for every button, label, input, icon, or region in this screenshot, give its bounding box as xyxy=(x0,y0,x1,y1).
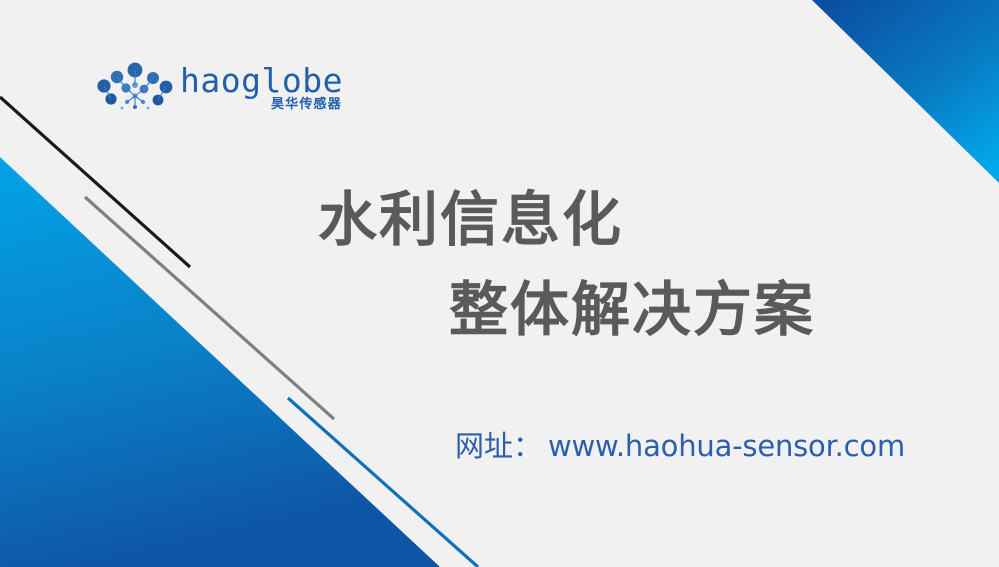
title-slide: haoglobe 昊华传感器 水利信息化 整体解决方案 网址： www.haoh… xyxy=(0,0,999,567)
gray-diagonal-line xyxy=(85,197,334,419)
slide-title-line-2: 整体解决方案 xyxy=(449,262,815,347)
website-line: 网址： www.haohua-sensor.com xyxy=(455,423,905,465)
logo-subtext: 昊华传感器 xyxy=(271,98,342,113)
slide-title-line-1: 水利信息化 xyxy=(318,172,623,257)
black-diagonal-line xyxy=(0,97,190,267)
logo-wordmark: haoglobe xyxy=(180,65,343,96)
blue-diagonal-line xyxy=(288,398,478,567)
logo-text: haoglobe 昊华传感器 xyxy=(180,65,343,113)
website-label: 网址： xyxy=(455,423,542,465)
website-url[interactable]: www.haohua-sensor.com xyxy=(548,429,905,463)
company-logo: haoglobe 昊华传感器 xyxy=(96,58,326,120)
haoglobe-molecule-icon xyxy=(96,61,174,117)
top-right-blue-wedge xyxy=(812,0,999,183)
